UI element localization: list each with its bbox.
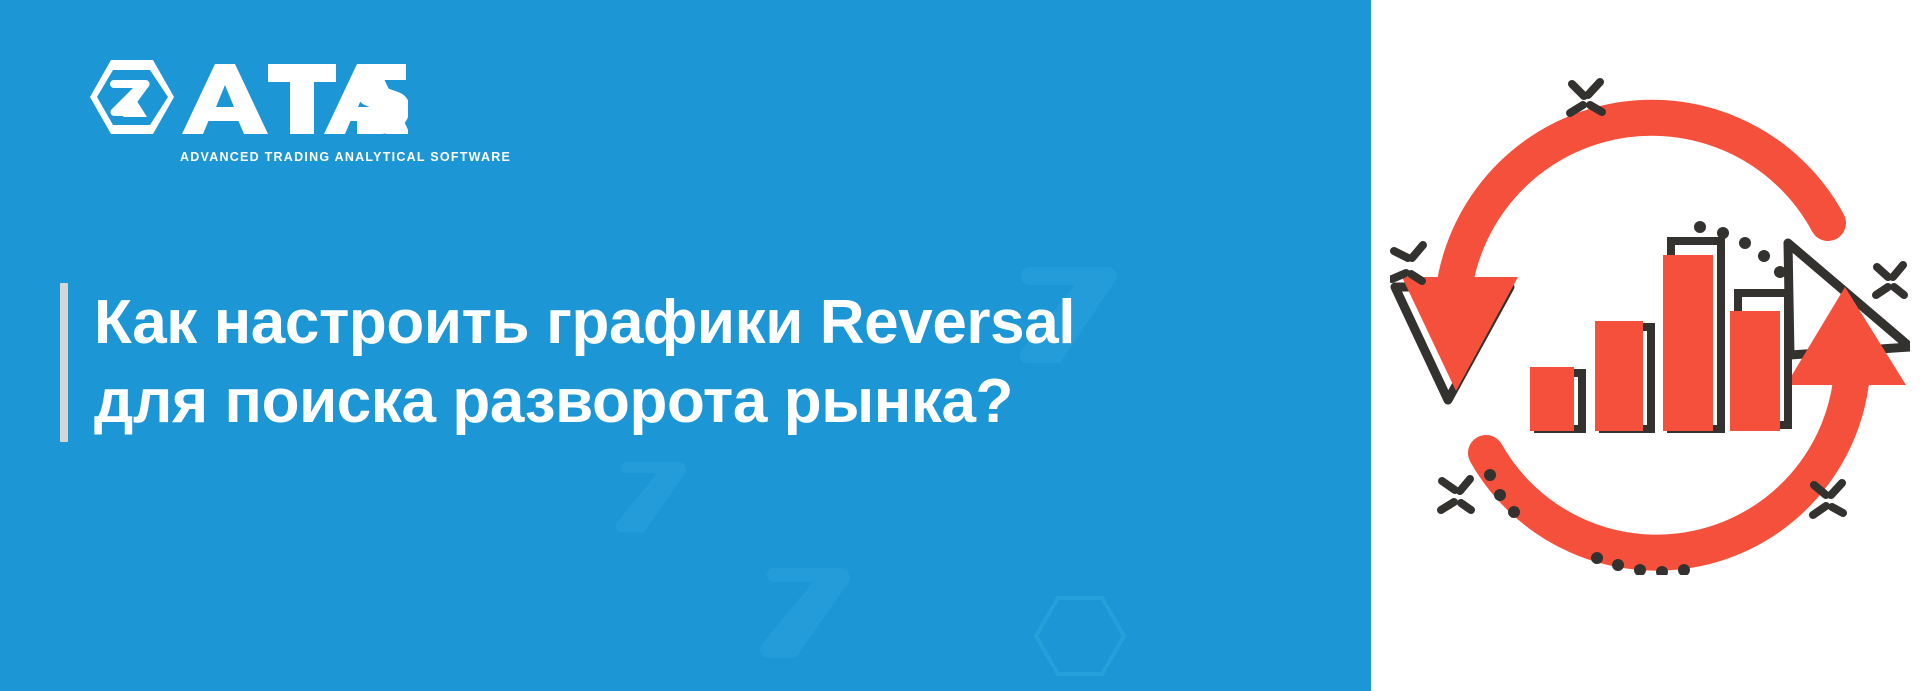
atas-wordmark (182, 64, 408, 134)
headline-line-1: Как настроить графики Reversal (94, 283, 1075, 362)
headline-accent-rule (60, 283, 68, 442)
logo-tagline: ADVANCED TRADING ANALYTICAL SOFTWARE (180, 150, 511, 164)
market-reversal-illustration (1390, 55, 1910, 575)
atas-hexagon-z-mark (90, 60, 174, 134)
watermark-hexagon (1020, 570, 1140, 690)
page-title: Как настроить графики Reversal для поиск… (94, 283, 1075, 442)
watermark-z-3 (740, 540, 880, 680)
promo-banner: ADVANCED TRADING ANALYTICAL SOFTWARE Как… (0, 0, 1920, 691)
bar-chart (1530, 241, 1788, 431)
blue-panel: ADVANCED TRADING ANALYTICAL SOFTWARE Как… (0, 0, 1371, 691)
headline-block: Как настроить графики Reversal для поиск… (60, 283, 1075, 442)
watermark-z-2 (600, 440, 710, 550)
headline-line-2: для поиска разворота рынка? (94, 362, 1075, 441)
